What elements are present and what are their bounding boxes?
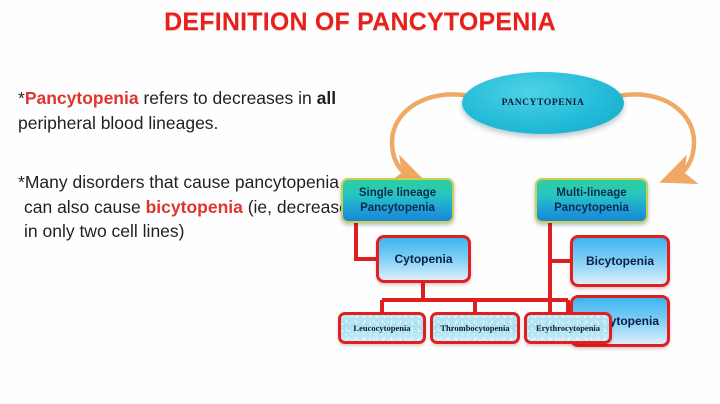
pancytopenia-flow-diagram: PANCYTOPENIA Single lineage Pancytopenia… — [330, 60, 720, 370]
single-lineage-line1: Single lineage — [359, 187, 436, 199]
paragraph1-tail: peripheral blood lineages. — [18, 113, 218, 133]
node-leucocytopenia[interactable]: Leucocytopenia — [338, 312, 426, 344]
node-root-pancytopenia[interactable]: PANCYTOPENIA — [462, 72, 624, 134]
node-cytopenia[interactable]: Cytopenia — [376, 235, 471, 283]
paragraph-pancytopenia-definition: *Pancytopenia refers to decreases in all… — [18, 86, 370, 136]
page-title: DEFINITION OF PANCYTOPENIA — [0, 8, 720, 37]
multi-lineage-line2: Pancytopenia — [554, 202, 629, 214]
highlight-bicytopenia: bicytopenia — [146, 197, 243, 217]
node-bicytopenia[interactable]: Bicytopenia — [570, 235, 670, 287]
bullet-marker: * — [18, 88, 25, 108]
paragraph-bicytopenia-note: *Many disorders that cause pancytopenia … — [18, 170, 370, 245]
arrow-to-single-lineage — [392, 94, 470, 176]
node-thrombocytopenia[interactable]: Thrombocytopenia — [430, 312, 520, 344]
bullet-marker-2: * — [18, 172, 25, 192]
node-multi-lineage-pancytopenia[interactable]: Multi-lineage Pancytopenia — [535, 178, 648, 223]
node-erythrocytopenia[interactable]: Erythrocytopenia — [524, 312, 612, 344]
highlight-pancytopenia: Pancytopenia — [25, 88, 139, 108]
node-single-lineage-pancytopenia[interactable]: Single lineage Pancytopenia — [341, 178, 454, 223]
multi-lineage-line1: Multi-lineage — [556, 187, 626, 199]
single-lineage-line2: Pancytopenia — [360, 202, 435, 214]
connector-single-to-cytopenia — [356, 223, 376, 259]
paragraph1-segment: refers to decreases in — [139, 88, 317, 108]
definition-text-block: *Pancytopenia refers to decreases in all… — [18, 86, 370, 244]
arrow-to-multi-lineage — [618, 94, 694, 176]
